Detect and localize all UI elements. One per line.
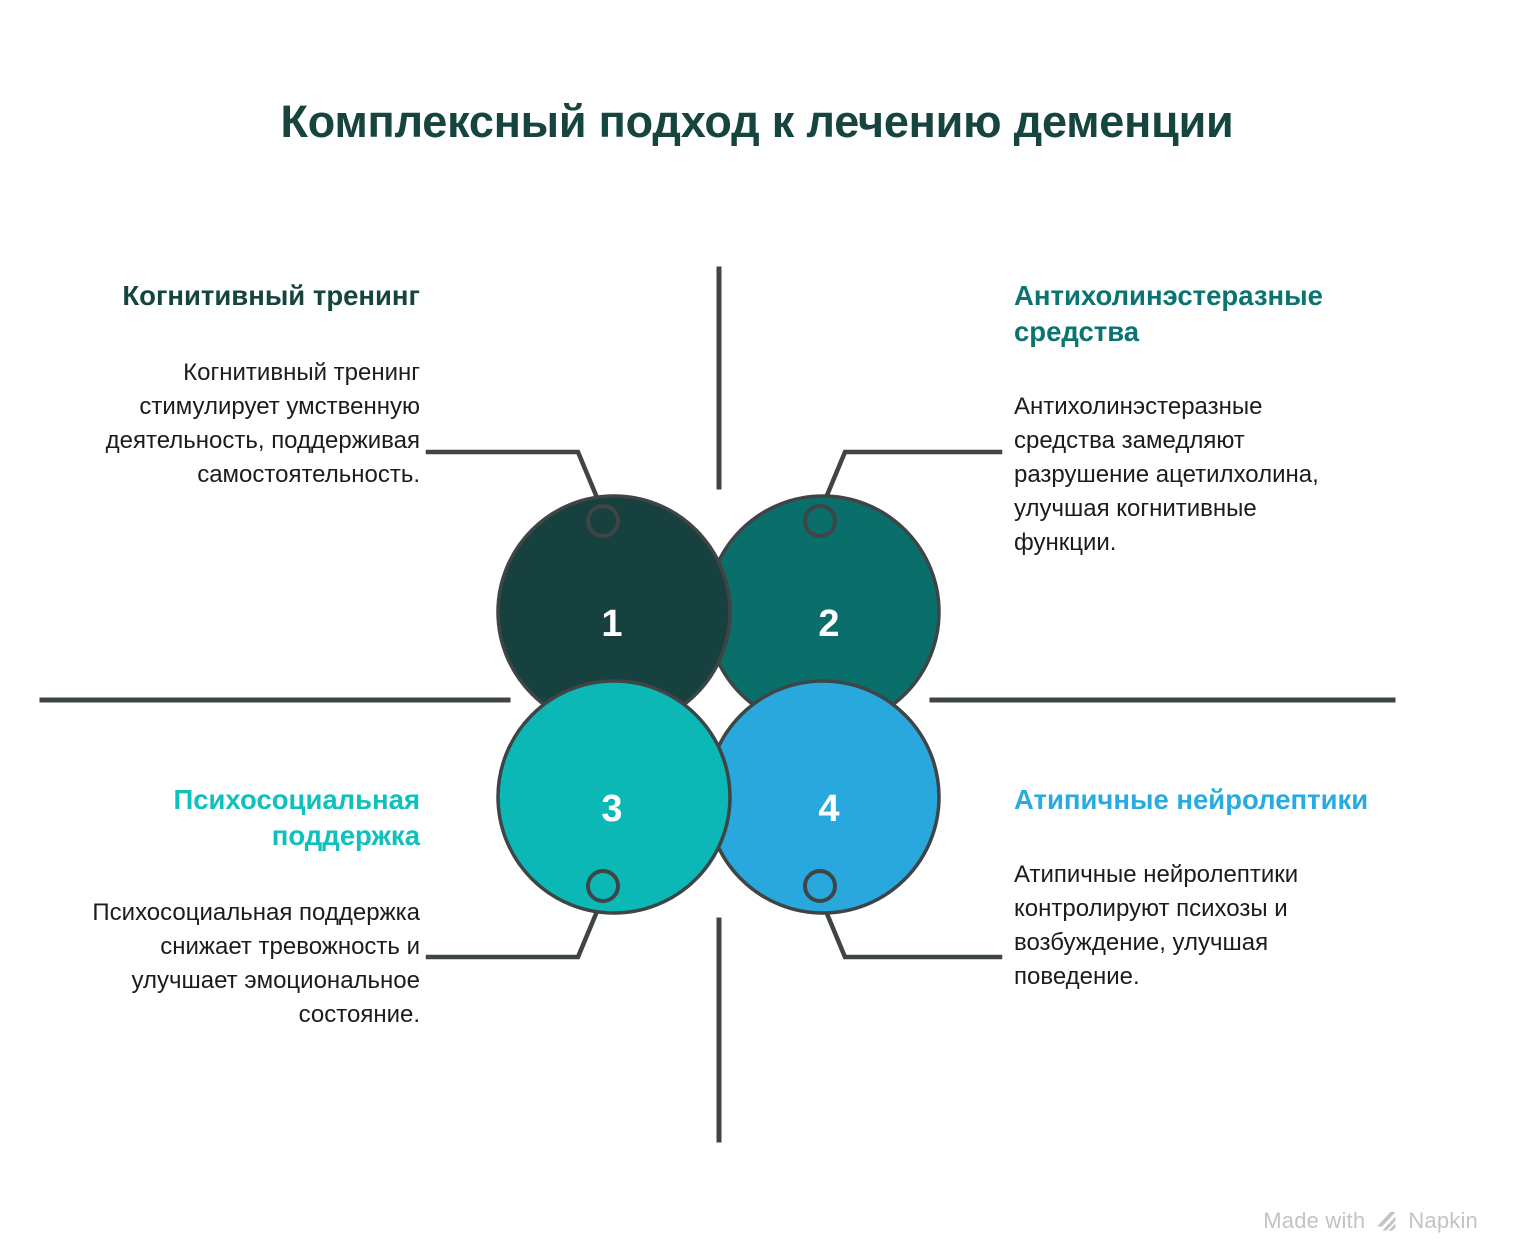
circle-number-1: 1: [601, 603, 622, 645]
quadrant-4: Атипичные нейролептики Атипичные нейроле…: [1014, 782, 1384, 994]
quadrant-2-body: Антихолинэстеразные средства замедляют р…: [1014, 390, 1354, 560]
quadrant-2: Антихолинэстеразные средства Антихолинэс…: [1014, 278, 1454, 560]
circle-number-4: 4: [818, 788, 839, 830]
infographic-canvas: Комплексный подход к лечению деменции 2 …: [0, 0, 1514, 1256]
quadrant-4-heading: Атипичные нейролептики: [1014, 782, 1384, 818]
circle-number-2: 2: [818, 603, 839, 645]
napkin-logo-icon: [1374, 1209, 1399, 1234]
circle-number-3: 3: [601, 788, 622, 830]
quadrant-2-heading: Антихолинэстеразные средства: [1014, 278, 1454, 350]
watermark: Made with Napkin: [1263, 1208, 1478, 1234]
quadrant-1-heading: Когнитивный тренинг: [66, 278, 420, 314]
circle-cluster: 2 1 4 3: [0, 0, 1514, 1256]
quadrant-4-body: Атипичные нейролептики контролируют псих…: [1014, 858, 1354, 994]
circle-group-4[interactable]: 4: [707, 681, 939, 913]
quadrant-3: Психосоциальная поддержка Психосоциальна…: [66, 782, 420, 1032]
watermark-made-with-label: Made with: [1263, 1208, 1365, 1234]
quadrant-1: Когнитивный тренинг Когнитивный тренинг …: [66, 278, 420, 492]
quadrant-3-body: Психосоциальная поддержка снижает тревож…: [66, 896, 420, 1032]
quadrant-3-heading: Психосоциальная поддержка: [66, 782, 420, 854]
quadrant-1-body: Когнитивный тренинг стимулирует умственн…: [66, 356, 420, 492]
watermark-brand-label: Napkin: [1408, 1208, 1478, 1234]
